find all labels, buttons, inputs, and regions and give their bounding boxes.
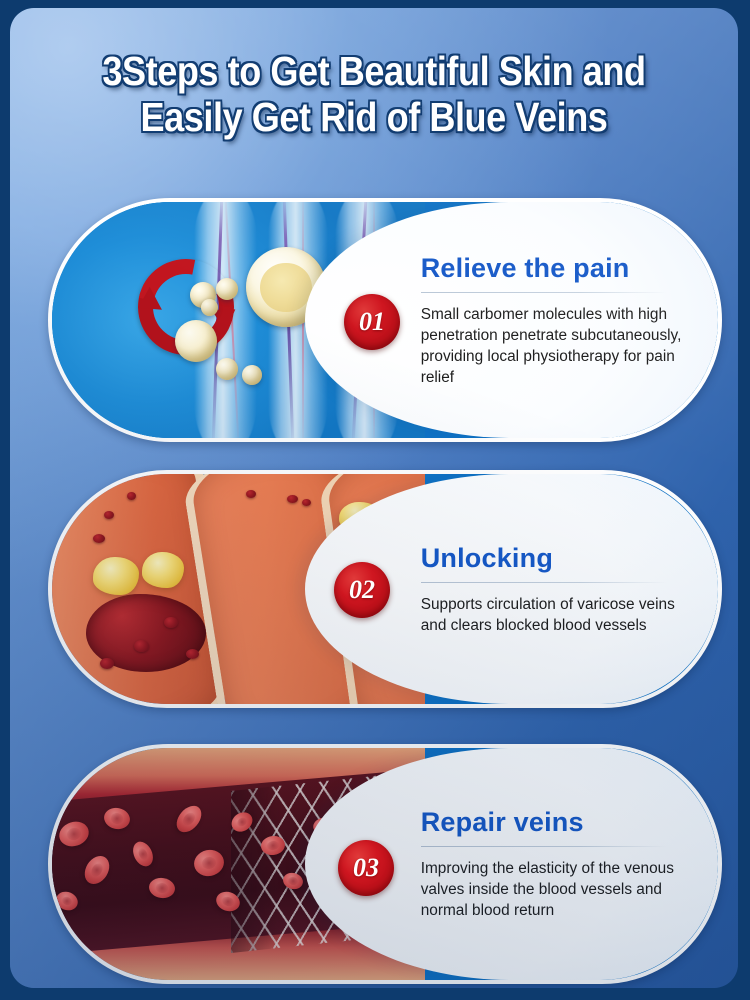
cholesterol-plaque-2 — [142, 552, 184, 588]
step-2-number-badge: 02 — [334, 562, 390, 618]
step-3-divider — [421, 846, 667, 847]
red-blood-cell — [104, 511, 114, 519]
carbomer-molecule-5 — [175, 320, 217, 362]
poster-title: 3Steps to Get Beautiful Skin and Easily … — [10, 48, 738, 140]
step-1-number-badge: 01 — [344, 294, 400, 350]
red-blood-cell — [134, 640, 149, 652]
step-1-heading: Relieve the pain — [421, 253, 698, 283]
step-card-1: Relieve the pain Small carbomer molecule… — [48, 198, 722, 442]
step-3-number-label: 03 — [353, 853, 379, 883]
step-3-number-badge: 03 — [338, 840, 394, 896]
step-2-divider — [421, 582, 667, 583]
step-2-number-label: 02 — [349, 575, 375, 605]
carbomer-molecule-7 — [242, 365, 262, 385]
step-1-text-inner: Relieve the pain Small carbomer molecule… — [421, 202, 698, 438]
red-blood-cell — [93, 534, 105, 543]
step-card-2: Unlocking Supports circulation of varico… — [48, 470, 722, 708]
red-blood-cell — [287, 495, 298, 503]
step-1-divider — [421, 292, 667, 293]
poster-inner-panel: 3Steps to Get Beautiful Skin and Easily … — [10, 8, 738, 988]
red-blood-cell — [246, 490, 256, 498]
step-1-body: Small carbomer molecules with high penet… — [421, 304, 692, 388]
step-1-number-label: 01 — [359, 307, 385, 337]
carbomer-molecule-6 — [216, 358, 238, 380]
carbomer-molecule-3 — [216, 278, 238, 300]
step-3-text-inner: Repair veins Improving the elasticity of… — [421, 748, 698, 980]
poster-root: 3Steps to Get Beautiful Skin and Easily … — [0, 0, 750, 1000]
step-3-heading: Repair veins — [421, 807, 698, 837]
step-2-heading: Unlocking — [421, 543, 698, 573]
step-card-3: Repair veins Improving the elasticity of… — [48, 744, 722, 984]
step-2-text-inner: Unlocking Supports circulation of varico… — [421, 474, 698, 704]
cholesterol-plaque-1 — [93, 557, 139, 595]
title-line-1: 3Steps to Get Beautiful Skin and — [54, 48, 695, 94]
red-blood-cell — [164, 617, 178, 628]
title-line-2: Easily Get Rid of Blue Veins — [54, 94, 695, 140]
step-3-body: Improving the elasticity of the venous v… — [421, 858, 692, 921]
step-2-body: Supports circulation of varicose veins a… — [421, 594, 692, 636]
carbomer-molecule-4 — [201, 299, 218, 316]
red-blood-cell — [186, 649, 199, 659]
